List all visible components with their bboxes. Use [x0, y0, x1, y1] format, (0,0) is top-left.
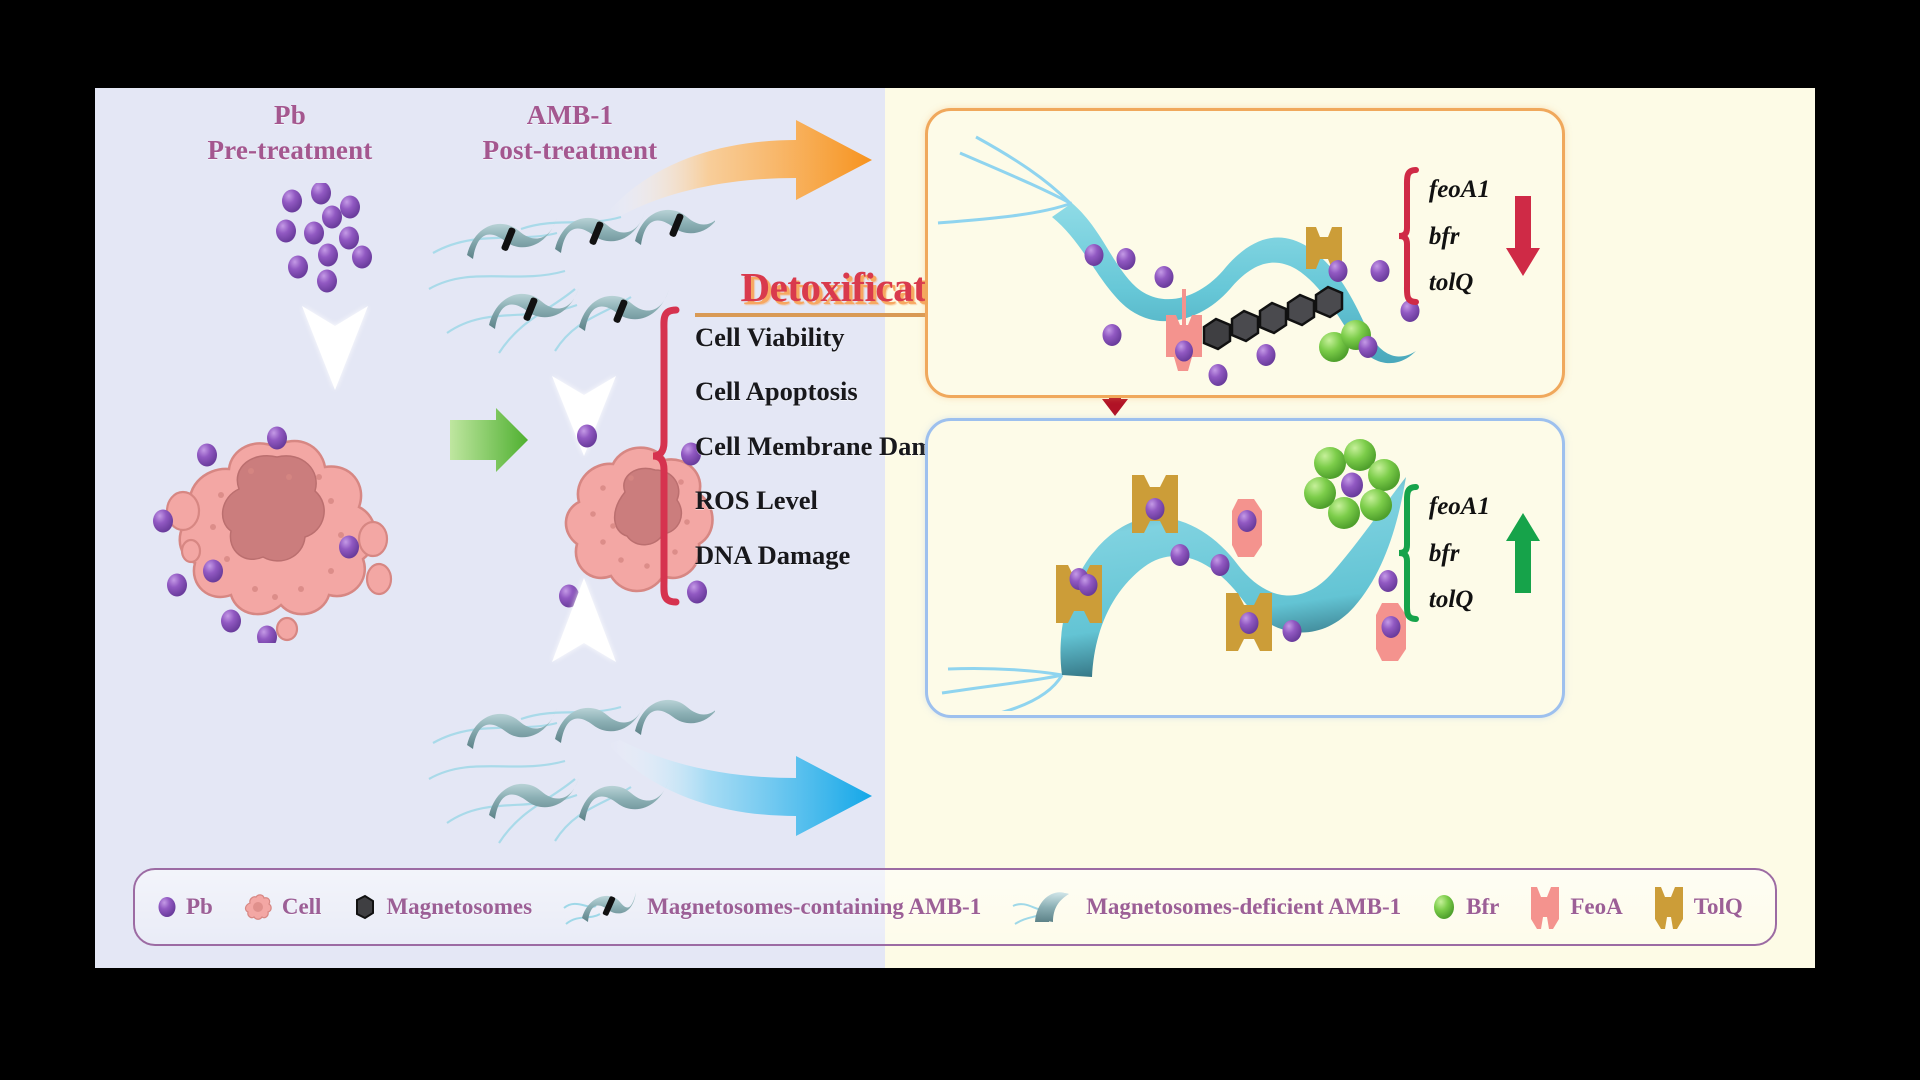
legend-item-tolq: TolQ	[1651, 885, 1743, 929]
outcome-label: ROS Level	[695, 485, 818, 516]
legend-item-bfr: Bfr	[1431, 893, 1499, 921]
legend-label: TolQ	[1694, 894, 1743, 920]
pb-dot-icon	[157, 895, 177, 919]
bacterium-without-magnetosomes	[936, 431, 1466, 711]
legend-label: FeoA	[1570, 894, 1622, 920]
bfr-sphere-icon	[1431, 893, 1457, 921]
gene-name: bfr	[1429, 224, 1490, 249]
outcome-brace	[650, 306, 680, 606]
bacterium-with-magnetosomes	[936, 119, 1456, 389]
magnetosome-deficient-amb1-icon	[1011, 884, 1077, 930]
magnetosome-hexagon-icon	[351, 893, 377, 921]
outcome-label: Cell Apoptosis	[695, 376, 858, 407]
gene-name: bfr	[1429, 541, 1490, 566]
legend-bar: Pb Cell Magnetosomes	[133, 868, 1777, 946]
outcome-label: Cell Viability	[695, 322, 844, 353]
legend-item-magnetosome-deficient-amb1: Magnetosomes-deficient AMB-1	[1011, 884, 1401, 930]
white-up-arrow-amb-bottom	[550, 578, 618, 668]
panel-magnetosome-containing: feoA1 bfr tolQ	[925, 108, 1565, 398]
legend-label: Magnetosomes-containing AMB-1	[647, 894, 981, 920]
gene-brace-green	[1397, 483, 1419, 623]
gene-block-downregulated: feoA1 bfr tolQ	[1397, 166, 1540, 306]
legend-item-pb: Pb	[157, 894, 213, 920]
bfr-cluster	[1304, 439, 1400, 529]
gene-name-list: feoA1 bfr tolQ	[1429, 494, 1490, 612]
cell-body	[167, 441, 391, 640]
gene-up-arrow-icon	[1506, 513, 1540, 593]
heading-pb-pretreatment: Pb Pre-treatment	[155, 98, 425, 167]
panel-magnetosome-deficient: feoA1 bfr tolQ	[925, 418, 1565, 718]
legend-item-magnetosome-containing-amb1: Magnetosomes-containing AMB-1	[562, 884, 981, 930]
tolq-protein-icon	[1651, 885, 1685, 929]
legend-label: Bfr	[1466, 894, 1499, 920]
heading-pb-line2: Pre-treatment	[155, 133, 425, 168]
pb-particle-cluster	[270, 183, 390, 293]
legend-label: Magnetosomes-deficient AMB-1	[1086, 894, 1401, 920]
heading-pb-line1: Pb	[155, 98, 425, 133]
legend-item-cell: Cell	[243, 892, 322, 922]
gene-block-upregulated: feoA1 bfr tolQ	[1397, 483, 1540, 623]
magnetosome-containing-amb1-icon	[562, 884, 638, 930]
legend-label: Magnetosomes	[386, 894, 532, 920]
white-down-arrow-pb	[300, 300, 370, 390]
legend-label: Cell	[282, 894, 322, 920]
flagella	[938, 137, 1072, 223]
gene-brace-red	[1397, 166, 1419, 306]
flagella	[942, 668, 1062, 711]
cell-body	[566, 448, 713, 591]
feoa-protein-icon	[1527, 885, 1561, 929]
legend-label: Pb	[186, 894, 213, 920]
gene-down-arrow-icon	[1506, 196, 1540, 276]
legend-item-magnetosomes: Magnetosomes	[351, 893, 532, 921]
gene-name: feoA1	[1429, 177, 1490, 202]
pb-damaged-cell	[135, 393, 405, 643]
orange-curved-arrow	[600, 108, 880, 218]
blue-curved-arrow	[600, 738, 880, 848]
figure-canvas: Pb Pre-treatment AMB-1 Post-treatment	[0, 0, 1920, 1080]
gene-name: tolQ	[1429, 270, 1490, 295]
gene-name-list: feoA1 bfr tolQ	[1429, 177, 1490, 295]
pb-dots	[276, 183, 372, 293]
graphical-abstract: Pb Pre-treatment AMB-1 Post-treatment	[95, 88, 1815, 968]
legend-item-feoa: FeoA	[1527, 885, 1622, 929]
gene-name: tolQ	[1429, 587, 1490, 612]
gene-name: feoA1	[1429, 494, 1490, 519]
outcome-label: DNA Damage	[695, 540, 850, 571]
cell-icon	[243, 892, 273, 922]
green-transition-arrow	[450, 408, 528, 472]
